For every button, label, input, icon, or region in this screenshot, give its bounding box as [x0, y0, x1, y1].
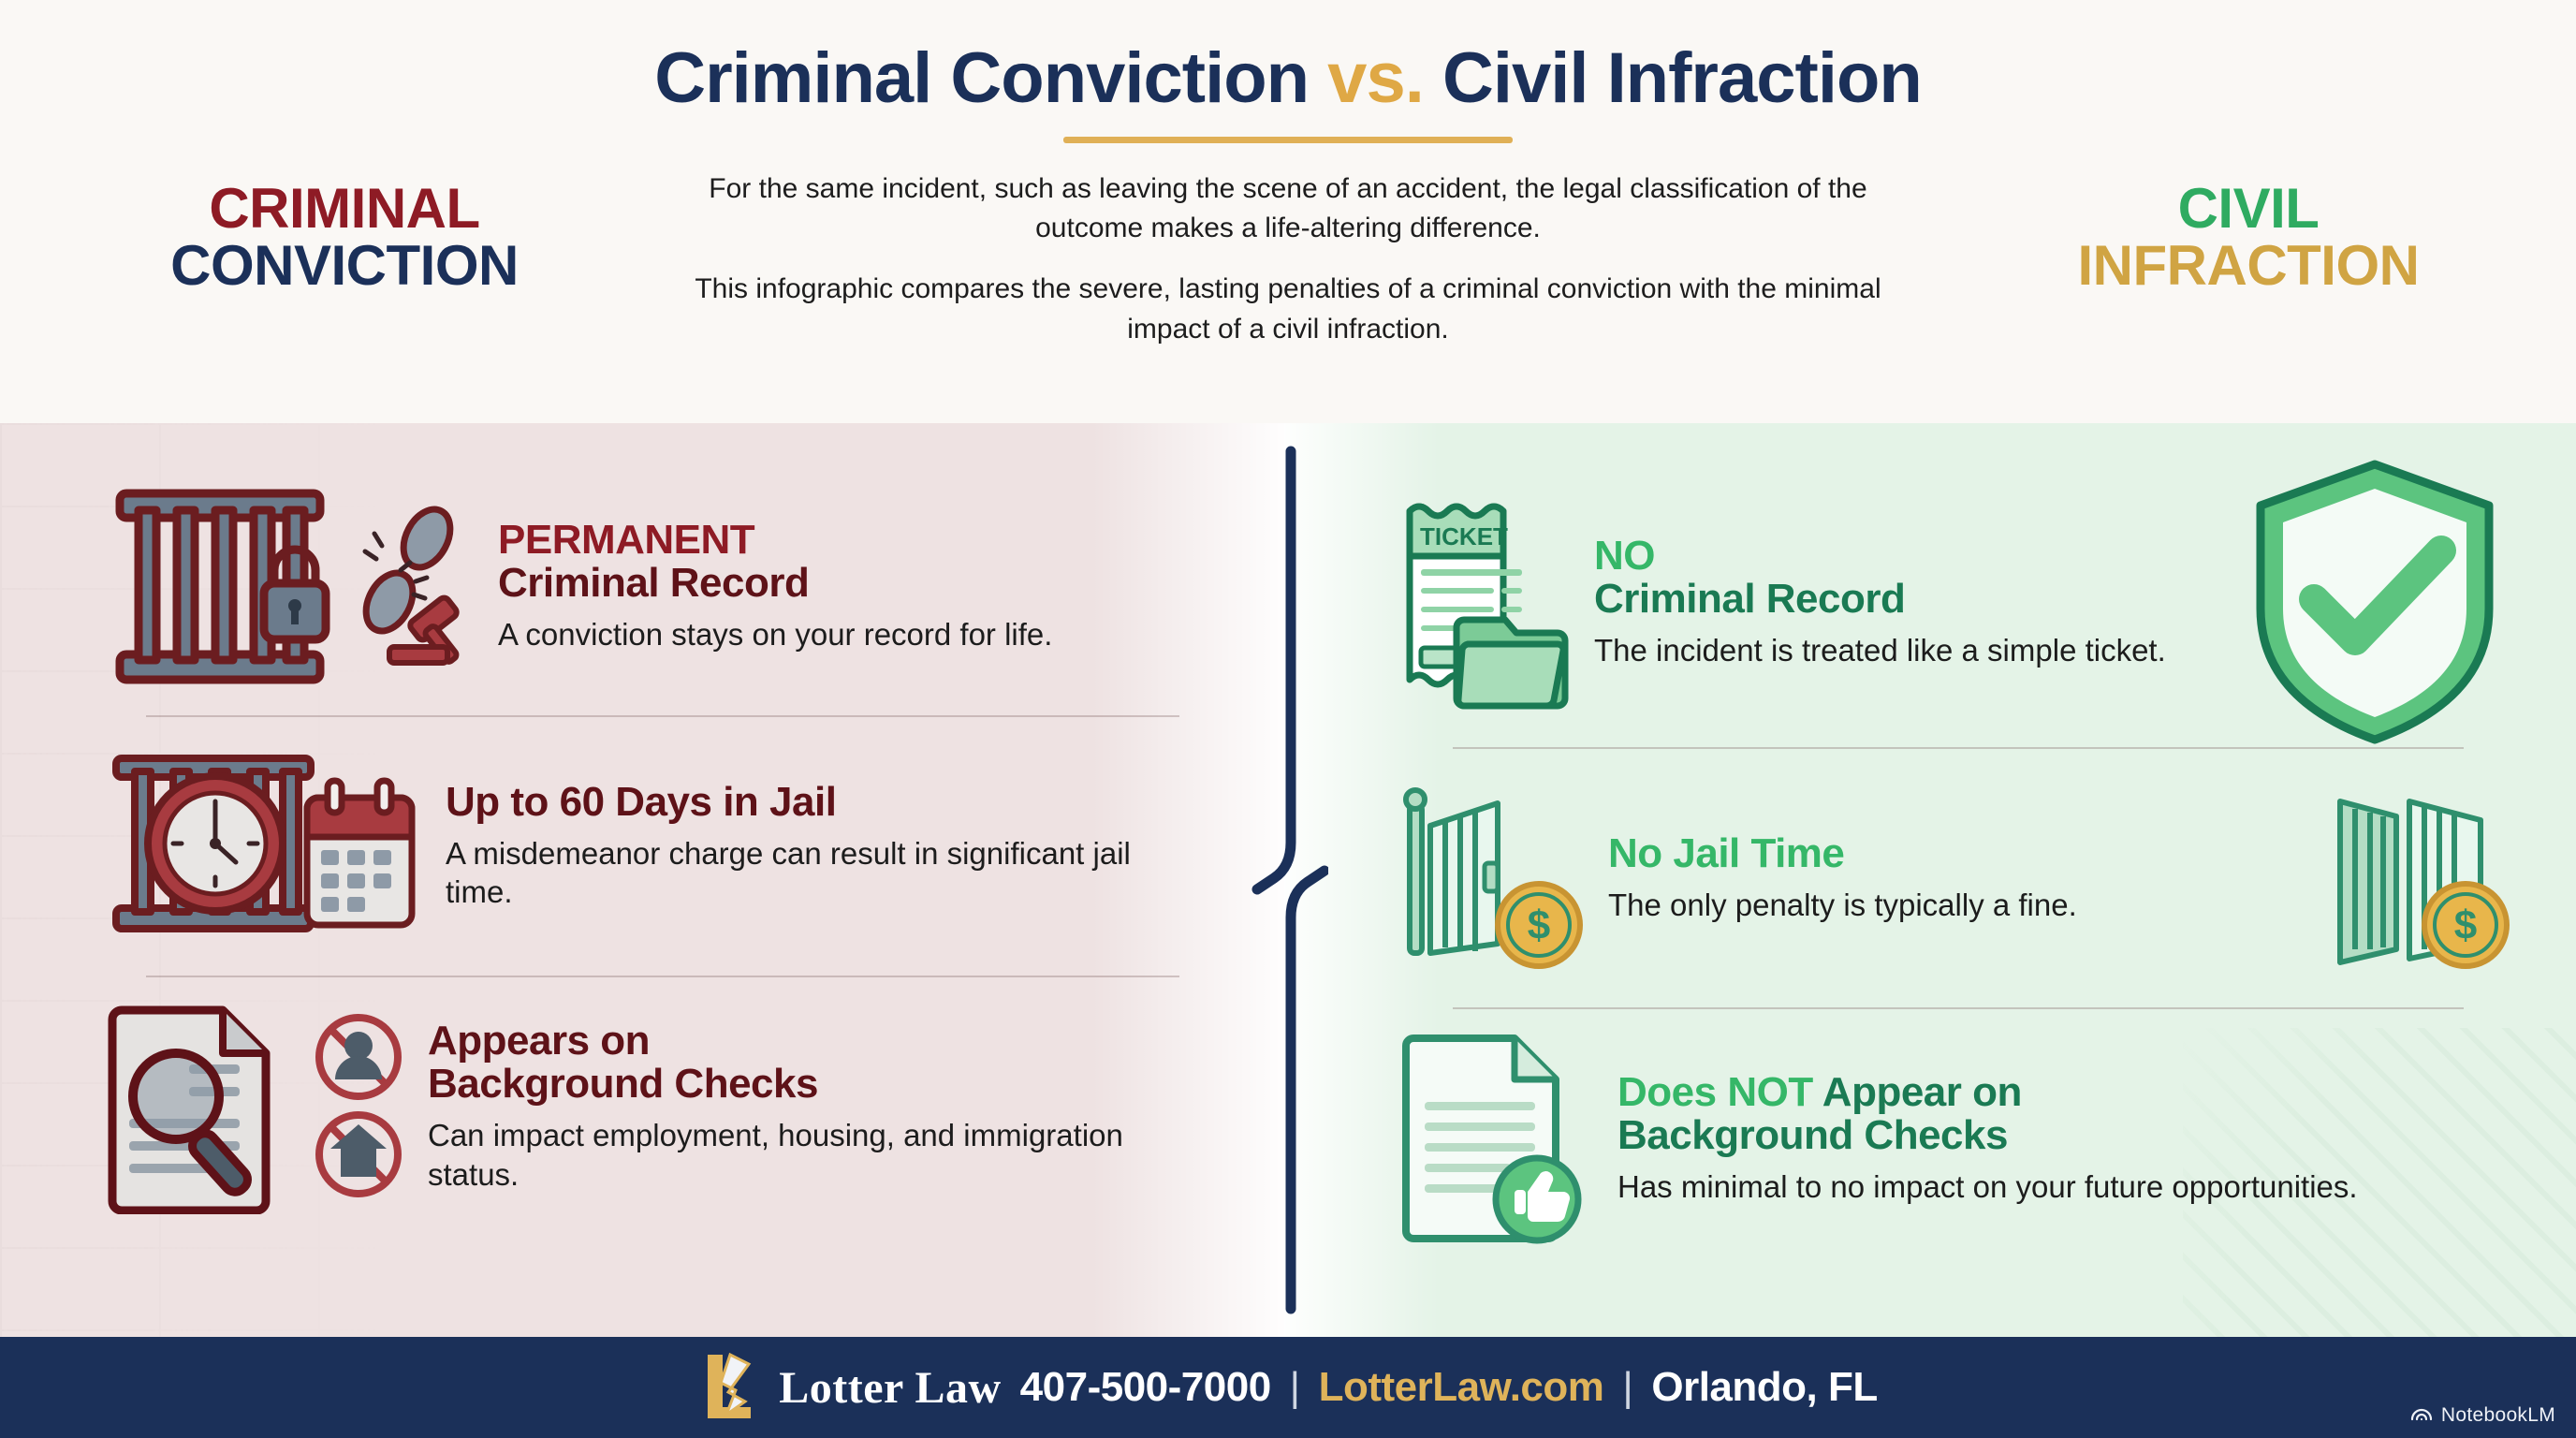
clock-jail-calendar-icon	[103, 753, 421, 940]
footer-phone[interactable]: 407-500-7000	[1020, 1364, 1271, 1411]
title-part2: Civil Infraction	[1442, 38, 1922, 118]
right-row-1-title-rest: Criminal Record	[1594, 576, 1905, 622]
center-divider	[1248, 423, 1328, 1337]
title-vs: vs.	[1327, 38, 1424, 118]
right-row-3: Does NOT Appear on Background Checks Has…	[1284, 1009, 2576, 1268]
criminal-conviction-panel: PERMANENT Criminal Record A conviction s…	[0, 423, 1284, 1337]
document-magnifier-icon	[103, 999, 290, 1214]
coin-symbol-right: $	[2454, 902, 2477, 948]
broken-chain-gavel-icon	[361, 505, 474, 668]
footer-separator-1: |	[1290, 1364, 1300, 1411]
footer-separator-2: |	[1622, 1364, 1632, 1411]
right-row-1-title-highlight: NO	[1594, 533, 1655, 579]
right-row-1-text: NO Criminal Record The incident is treat…	[1594, 535, 2215, 670]
right-column-heading: CIVIL INFRACTION	[1958, 180, 2539, 294]
left-row-3-text: Appears on Background Checks Can impact …	[428, 1020, 1172, 1194]
intro-paragraph-1: For the same incident, such as leaving t…	[684, 169, 1892, 249]
left-row-3-desc: Can impact employment, housing, and immi…	[428, 1116, 1172, 1194]
title-part1: Criminal Conviction	[654, 38, 1309, 118]
notebooklm-label: NotebookLM	[2441, 1404, 2555, 1427]
footer-website[interactable]: LotterLaw.com	[1319, 1364, 1604, 1411]
open-gate-coin-icon: $	[1397, 783, 1584, 975]
left-row-3-title-highlight: Appears on	[428, 1018, 650, 1064]
intro-block: For the same incident, such as leaving t…	[684, 169, 1892, 349]
civil-infraction-panel: TICKET NO Criminal Record	[1284, 423, 2576, 1337]
left-row-1-text: PERMANENT Criminal Record A conviction s…	[498, 519, 1172, 654]
document-thumbsup-icon	[1397, 1029, 1593, 1249]
left-heading-line1: CRIMINAL	[54, 180, 635, 237]
left-row-2-title: Up to 60 Days in Jail	[446, 779, 836, 825]
left-row-1-desc: A conviction stays on your record for li…	[498, 615, 1172, 654]
right-row-1-desc: The incident is treated like a simple ti…	[1594, 631, 2215, 670]
right-row-3-desc: Has minimal to no impact on your future …	[1617, 1167, 2510, 1207]
left-row-2-text: Up to 60 Days in Jail A misdemeanor char…	[446, 781, 1172, 912]
header: Criminal Conviction vs. Civil Infraction…	[0, 0, 2576, 423]
right-row-2: $ No Jail Time The only penalty is typic…	[1284, 749, 2576, 1007]
right-row-3-title-mid: Appear on	[1822, 1069, 2022, 1115]
footer-bar: Lotter Law 407-500-7000 | LotterLaw.com …	[0, 1337, 2576, 1438]
left-heading-line2: CONVICTION	[54, 237, 635, 294]
open-gate-coin-icon-2: $	[2323, 783, 2510, 975]
coin-symbol-left: $	[1528, 902, 1550, 948]
notebooklm-icon	[2410, 1404, 2433, 1427]
no-person-no-house-icon	[315, 1008, 403, 1205]
title-divider-rule	[1063, 137, 1513, 143]
right-row-1: TICKET NO Criminal Record	[1284, 457, 2576, 747]
left-row-1-title-highlight: PERMANENT	[498, 517, 754, 563]
right-row-2-text: No Jail Time The only penalty is typical…	[1608, 832, 2299, 924]
left-row-3: Appears on Background Checks Can impact …	[0, 977, 1284, 1236]
shield-check-icon	[2239, 457, 2510, 747]
right-row-2-desc: The only penalty is typically a fine.	[1608, 886, 2299, 925]
ticket-folder-icon: TICKET	[1397, 494, 1570, 710]
right-heading-line2: INFRACTION	[1958, 237, 2539, 294]
right-row-3-title-highlight: Does NOT	[1617, 1069, 1813, 1115]
left-row-2-desc: A misdemeanor charge can result in signi…	[446, 834, 1172, 912]
right-row-3-title-rest: Background Checks	[1617, 1112, 2008, 1158]
intro-paragraph-2: This infographic compares the severe, la…	[684, 270, 1892, 349]
page-title: Criminal Conviction vs. Civil Infraction	[0, 0, 2576, 116]
right-row-3-text: Does NOT Appear on Background Checks Has…	[1617, 1071, 2510, 1207]
left-row-3-title-rest: Background Checks	[428, 1061, 818, 1107]
left-column-heading: CRIMINAL CONVICTION	[54, 180, 635, 294]
footer-brand: Lotter Law	[779, 1362, 1001, 1414]
right-heading-line1: CIVIL	[1958, 180, 2539, 237]
lotter-law-monogram-icon	[698, 1349, 760, 1427]
left-row-2: Up to 60 Days in Jail A misdemeanor char…	[0, 717, 1284, 976]
right-row-2-title: No Jail Time	[1608, 830, 1844, 876]
footer-location: Orlando, FL	[1651, 1364, 1877, 1411]
jail-bars-padlock-icon	[103, 486, 337, 687]
left-row-1-title-rest: Criminal Record	[498, 560, 809, 606]
left-row-1: PERMANENT Criminal Record A conviction s…	[0, 457, 1284, 715]
notebooklm-watermark: NotebookLM	[2410, 1404, 2555, 1427]
ticket-label: TICKET	[1420, 522, 1508, 550]
